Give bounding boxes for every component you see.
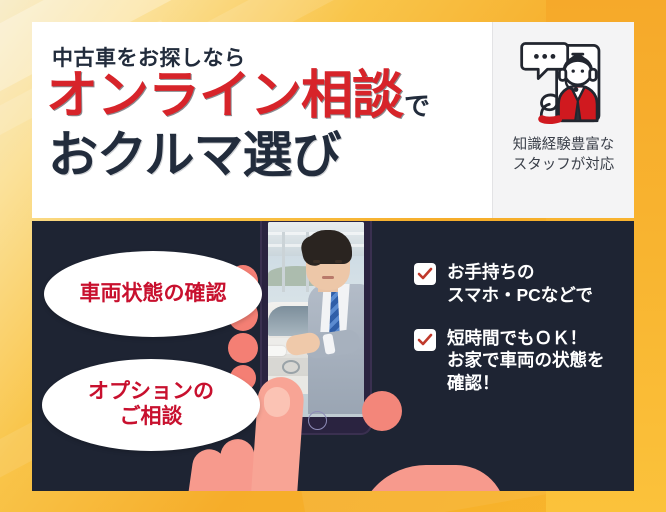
checklist-item: お手持ちの スマホ・PCなどで bbox=[414, 261, 624, 307]
checklist: お手持ちの スマホ・PCなどで 短時間でもＯＫ！ お家で車両の状態を 確認！ bbox=[414, 261, 624, 415]
illustrated-finger bbox=[214, 438, 255, 491]
photo-salesman-eye bbox=[313, 260, 320, 263]
photo-pole bbox=[282, 232, 285, 292]
operator-headset-icon bbox=[518, 36, 610, 132]
feature-bubble-1-text: 車両状態の確認 bbox=[80, 282, 227, 307]
photo-salesman-eye bbox=[335, 260, 342, 263]
ad-banner: 中古車をお探しなら オンライン相談 で おクルマ選び bbox=[0, 0, 666, 512]
feature-bubble-2-text: オプションの ご相談 bbox=[88, 380, 214, 430]
operator-caption: 知識経験豊富な スタッフが対応 bbox=[513, 136, 615, 175]
feature-bubble-2: オプションの ご相談 bbox=[42, 359, 260, 451]
photo-car-headlight bbox=[268, 346, 286, 356]
checkbox-checked-icon bbox=[414, 329, 436, 351]
headline-card: 中古車をお探しなら オンライン相談 で おクルマ選び bbox=[32, 22, 634, 218]
illustrated-knuckle bbox=[228, 333, 258, 363]
checklist-item-text: 短時間でもＯＫ！ お家で車両の状態を 確認！ bbox=[447, 327, 605, 395]
headline-line-2: おクルマ選び bbox=[48, 130, 341, 180]
feature-bubble-1: 車両状態の確認 bbox=[44, 251, 262, 337]
checklist-item-text: お手持ちの スマホ・PCなどで bbox=[447, 261, 593, 307]
photo-salesman-mouth bbox=[322, 276, 334, 279]
headline-text-area: 中古車をお探しなら オンライン相談 で おクルマ選び bbox=[32, 22, 492, 218]
headline-line-1: オンライン相談 で bbox=[46, 70, 430, 122]
checklist-item: 短時間でもＯＫ！ お家で車両の状態を 確認！ bbox=[414, 327, 624, 395]
feature-panel: 車両状態の確認 オプションの ご相談 お手持ちの スマホ・PCなどで 短時間でも… bbox=[32, 221, 634, 491]
illustrated-knuckle bbox=[362, 391, 402, 431]
phone-home-button bbox=[308, 411, 327, 430]
illustrated-right-hand bbox=[356, 465, 506, 491]
photo-car-emblem bbox=[282, 360, 300, 374]
operator-panel: 知識経験豊富な スタッフが対応 bbox=[492, 22, 634, 218]
operator-caption-line-1: 知識経験豊富な bbox=[513, 136, 615, 156]
illustrated-fingernail bbox=[264, 387, 290, 417]
checkbox-checked-icon bbox=[414, 263, 436, 285]
operator-caption-line-2: スタッフが対応 bbox=[513, 156, 615, 176]
headline-red-text: オンライン相談 bbox=[46, 70, 403, 122]
headline-suffix-text: で bbox=[404, 93, 430, 122]
